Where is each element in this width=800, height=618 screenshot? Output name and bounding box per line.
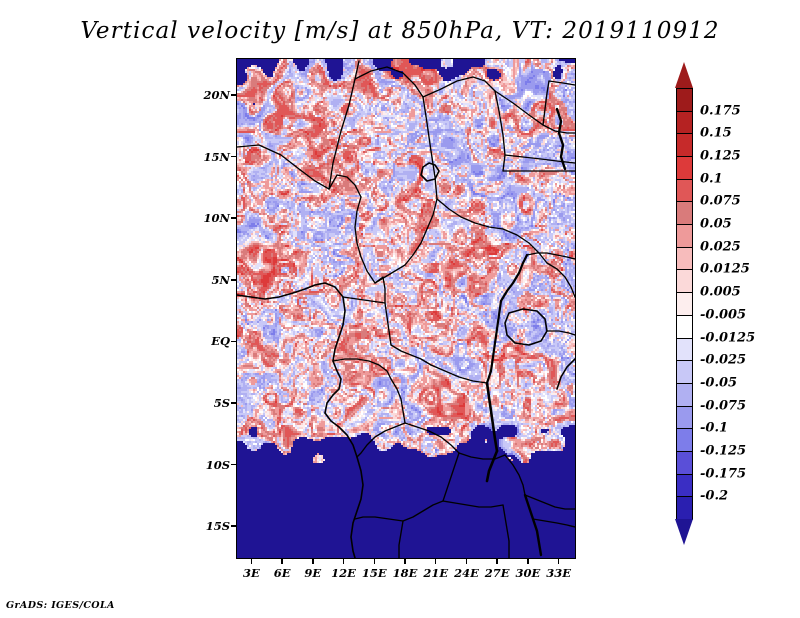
x-axis-tick-label: 33E bbox=[546, 566, 571, 580]
x-axis-tick-mark bbox=[251, 559, 253, 564]
colorbar-tick-label: -0.075 bbox=[700, 398, 746, 413]
vertical-velocity-heatmap bbox=[237, 59, 575, 558]
x-axis-tick-label: 30E bbox=[516, 566, 541, 580]
colorbar-tick-label: 0.125 bbox=[700, 149, 741, 164]
colorbar-tick-label: -0.05 bbox=[700, 375, 737, 390]
colorbar-band bbox=[676, 201, 693, 225]
y-axis-tick-mark bbox=[231, 156, 236, 158]
page-title: Vertical velocity [m/s] at 850hPa, VT: 2… bbox=[0, 18, 800, 44]
x-axis-tick-mark bbox=[435, 559, 437, 564]
colorbar-band bbox=[676, 247, 693, 271]
x-axis-tick-mark bbox=[404, 559, 406, 564]
colorbar-band bbox=[676, 406, 693, 430]
colorbar-band bbox=[676, 338, 693, 362]
y-axis-tick-mark bbox=[231, 94, 236, 96]
y-axis-tick-label: 5N bbox=[190, 273, 230, 287]
y-axis-tick-mark bbox=[231, 217, 236, 219]
y-axis-tick-mark bbox=[231, 341, 236, 343]
colorbar-band bbox=[676, 292, 693, 316]
y-axis-tick-label: 10N bbox=[190, 211, 230, 225]
colorbar-band bbox=[676, 474, 693, 498]
colorbar-tick-label: 0.075 bbox=[700, 194, 741, 209]
colorbar-band bbox=[676, 179, 693, 203]
colorbar-tick-label: 0.025 bbox=[700, 239, 741, 254]
map-plot-area[interactable] bbox=[236, 58, 576, 559]
y-axis-tick-label: 10S bbox=[190, 458, 230, 472]
colorbar-band bbox=[676, 496, 693, 520]
colorbar-tick-label: 0.005 bbox=[700, 285, 741, 300]
y-axis-tick-mark bbox=[231, 464, 236, 466]
y-axis-tick-label: 5S bbox=[190, 396, 230, 410]
colorbar[interactable]: 0.1750.150.1250.10.0750.050.0250.01250.0… bbox=[676, 62, 693, 545]
y-axis-tick-label: 20N bbox=[190, 88, 230, 102]
colorbar-tick-label: -0.005 bbox=[700, 307, 746, 322]
y-axis-tick-mark bbox=[231, 402, 236, 404]
colorbar-min-arrow bbox=[675, 519, 693, 545]
colorbar-band bbox=[676, 315, 693, 339]
colorbar-tick-label: 0.0125 bbox=[700, 262, 750, 277]
colorbar-tick-label: -0.175 bbox=[700, 466, 746, 481]
colorbar-band bbox=[676, 360, 693, 384]
x-axis-tick-mark bbox=[343, 559, 345, 564]
x-axis-tick-label: 9E bbox=[304, 566, 321, 580]
x-axis-tick-label: 3E bbox=[243, 566, 260, 580]
x-axis-tick-label: 24E bbox=[454, 566, 479, 580]
colorbar-tick-label: -0.025 bbox=[700, 353, 746, 368]
colorbar-tick-label: -0.2 bbox=[700, 489, 728, 504]
x-axis-tick-label: 18E bbox=[393, 566, 418, 580]
x-axis-tick-label: 21E bbox=[423, 566, 448, 580]
colorbar-band bbox=[676, 133, 693, 157]
x-axis-tick-label: 6E bbox=[274, 566, 291, 580]
x-axis-tick-mark bbox=[374, 559, 376, 564]
x-axis-tick-mark bbox=[527, 559, 529, 564]
y-axis-tick-label: 15N bbox=[190, 150, 230, 164]
colorbar-band bbox=[676, 383, 693, 407]
colorbar-band bbox=[676, 156, 693, 180]
y-axis-tick-mark bbox=[231, 279, 236, 281]
colorbar-band bbox=[676, 269, 693, 293]
x-axis-tick-mark bbox=[312, 559, 314, 564]
colorbar-max-arrow bbox=[675, 62, 693, 88]
colorbar-band bbox=[676, 88, 693, 112]
x-axis-tick-mark bbox=[466, 559, 468, 564]
x-axis-tick-mark bbox=[496, 559, 498, 564]
y-axis-tick-label: EQ bbox=[190, 334, 230, 348]
colorbar-tick-label: 0.05 bbox=[700, 217, 732, 232]
colorbar-tick-label: -0.125 bbox=[700, 443, 746, 458]
colorbar-tick-label: -0.0125 bbox=[700, 330, 755, 345]
x-axis-tick-label: 15E bbox=[362, 566, 387, 580]
footer-credit: GrADS: IGES/COLA bbox=[6, 600, 115, 611]
x-axis-tick-label: 12E bbox=[331, 566, 356, 580]
colorbar-tick-label: 0.1 bbox=[700, 171, 723, 186]
colorbar-tick-label: 0.175 bbox=[700, 103, 741, 118]
colorbar-tick-label: 0.15 bbox=[700, 126, 732, 141]
colorbar-band bbox=[676, 428, 693, 452]
colorbar-band bbox=[676, 224, 693, 248]
colorbar-tick-label: -0.1 bbox=[700, 421, 728, 436]
colorbar-band bbox=[676, 451, 693, 475]
y-axis-tick-label: 15S bbox=[190, 519, 230, 533]
x-axis-tick-label: 27E bbox=[485, 566, 510, 580]
colorbar-band bbox=[676, 111, 693, 135]
x-axis-tick-mark bbox=[558, 559, 560, 564]
y-axis-tick-mark bbox=[231, 525, 236, 527]
x-axis-tick-mark bbox=[281, 559, 283, 564]
